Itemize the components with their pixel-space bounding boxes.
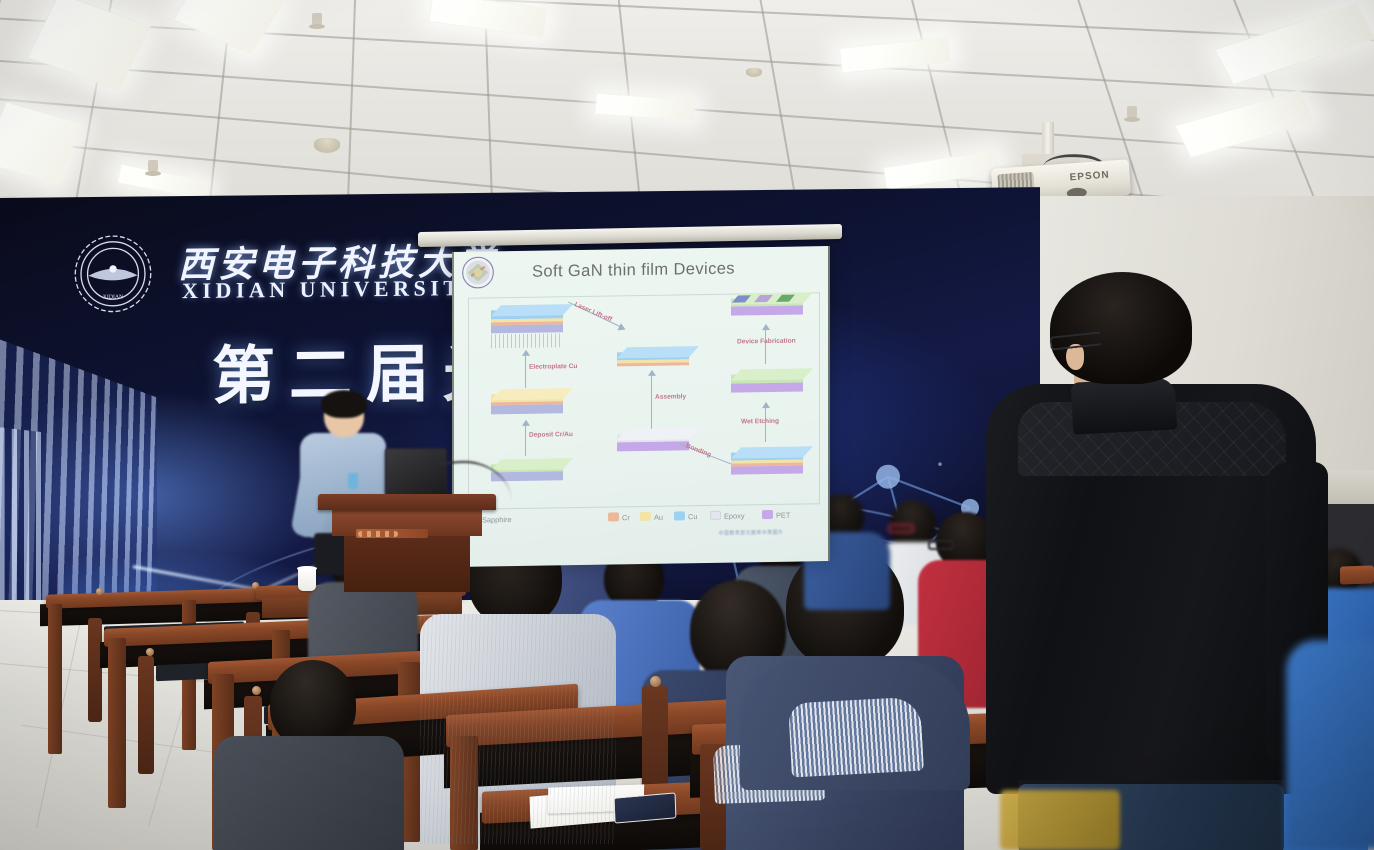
audience-head bbox=[270, 660, 356, 748]
desk-leg bbox=[108, 638, 126, 808]
slide-label-assembly: Assembly bbox=[655, 393, 686, 400]
legend-swatch-epoxy bbox=[710, 511, 721, 520]
audience-collar-stripe bbox=[788, 697, 924, 778]
audience-shirt-texture bbox=[420, 614, 616, 844]
foreground-blur-shape bbox=[1286, 640, 1374, 850]
lectern-front-panel bbox=[332, 509, 482, 536]
legend-label-au: Au bbox=[654, 513, 663, 522]
lectern-top bbox=[318, 494, 496, 510]
slide-label-device-fabrication: Device Fabrication bbox=[737, 338, 796, 346]
lecture-hall-photo: EPSON bbox=[0, 0, 1374, 850]
sprinkler-head-icon bbox=[1127, 106, 1137, 122]
chair-back bbox=[138, 656, 154, 774]
audience-torso bbox=[214, 736, 404, 850]
slide-label-wet-etching: Wet Etching bbox=[741, 418, 779, 426]
desk-leg bbox=[48, 604, 62, 754]
smoke-detector-icon bbox=[746, 68, 762, 77]
slide-legend: Sapphire Cr Au Cu Epoxy PET bbox=[466, 508, 826, 530]
legend-label-epoxy: Epoxy bbox=[724, 511, 745, 520]
desk-knob bbox=[96, 588, 103, 595]
laptop bbox=[385, 448, 447, 496]
legend-swatch-cu bbox=[674, 511, 685, 520]
paper-cup bbox=[298, 568, 316, 591]
lectern-nameplate-text bbox=[358, 531, 398, 537]
slide-university-seal-icon bbox=[461, 255, 495, 290]
legend-swatch-cr bbox=[608, 512, 619, 521]
projection-screen: Soft GaN thin film Devices Electroplate … bbox=[452, 246, 830, 567]
audience-glasses-icon bbox=[888, 524, 914, 533]
slide-arrow-device-fabrication bbox=[765, 328, 766, 364]
chair-back bbox=[88, 618, 102, 722]
slide-label-electroplate-cu: Electroplate Cu bbox=[529, 363, 577, 371]
smoke-detector-icon bbox=[314, 138, 340, 153]
sprinkler-head-icon bbox=[148, 160, 158, 176]
slide-label-bonding: Bonding bbox=[685, 443, 712, 459]
slide-diagram: Electroplate Cu Laser Lift-off Deposit C… bbox=[468, 292, 820, 510]
desk-knob bbox=[252, 686, 261, 695]
sprinkler-head-icon bbox=[312, 13, 322, 29]
svg-text:XIDIAN: XIDIAN bbox=[103, 294, 124, 300]
presenter-hair bbox=[321, 390, 367, 418]
lectern-base bbox=[344, 535, 470, 592]
slide-label-laser-liftoff: Laser Lift-off bbox=[573, 301, 613, 323]
legend-label-pet: PET bbox=[776, 511, 790, 520]
slide-arrow-electroplate bbox=[525, 354, 526, 388]
desk-surface bbox=[1340, 565, 1374, 584]
desk-knob bbox=[146, 648, 154, 656]
slide-arrow-deposit bbox=[525, 424, 526, 456]
legend-label-cr: Cr bbox=[622, 513, 630, 522]
projector-mount-pole bbox=[1042, 122, 1054, 156]
tablet-device bbox=[614, 792, 677, 823]
laptop-lid bbox=[385, 448, 447, 496]
foreground-blur-shape bbox=[1000, 790, 1120, 850]
standing-attendee bbox=[978, 272, 1334, 850]
projector-brand-label: EPSON bbox=[1069, 170, 1110, 184]
lectern bbox=[318, 494, 496, 592]
audience-glasses-icon bbox=[928, 540, 954, 550]
banner-university-name-en: XIDIAN UNIVERSITY bbox=[182, 275, 483, 304]
legend-swatch-au bbox=[640, 512, 651, 521]
desk-knob bbox=[650, 676, 661, 687]
legend-swatch-pet bbox=[762, 510, 773, 519]
presenter-badge bbox=[348, 473, 358, 489]
slide-title: Soft GaN thin film Devices bbox=[532, 258, 822, 282]
slide-label-deposit-crau: Deposit Cr/Au bbox=[529, 431, 573, 439]
slide-arrow-assembly bbox=[651, 374, 652, 432]
university-seal-icon: XIDIAN bbox=[72, 232, 154, 315]
slide-footer-watermark: 中国教育部文献库中英图片 bbox=[686, 528, 816, 543]
legend-label-cu: Cu bbox=[688, 512, 697, 521]
standing-attendee-collar bbox=[1071, 377, 1178, 434]
slide-hatch-fringe bbox=[491, 333, 563, 348]
